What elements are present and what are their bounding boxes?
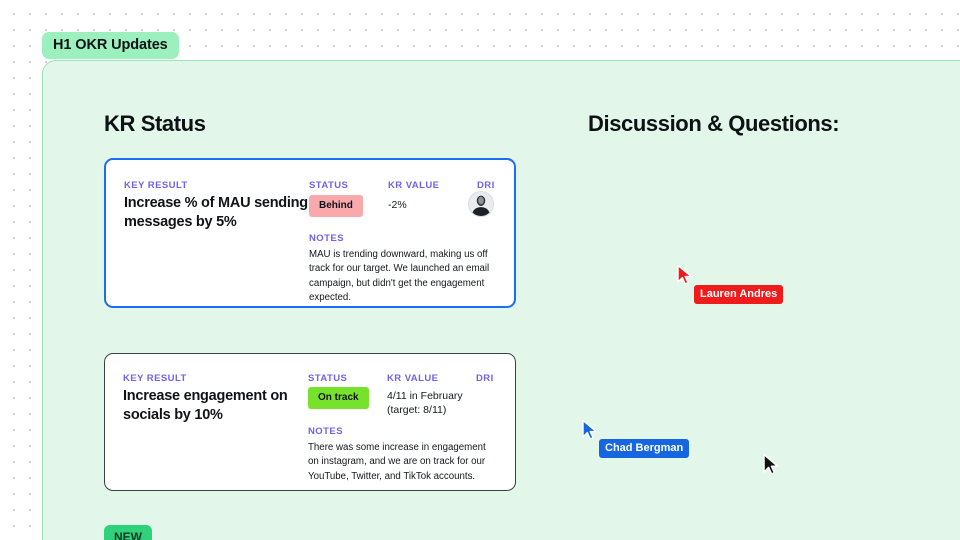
field-label-key-result: KEY RESULT <box>123 373 187 384</box>
collaborator-name-label: Lauren Andres <box>694 285 783 304</box>
field-label-notes: NOTES <box>309 233 344 244</box>
field-label-dri: DRI <box>477 180 495 191</box>
field-label-kr-value: KR VALUE <box>388 180 439 191</box>
status-badge[interactable]: Behind <box>309 195 363 217</box>
field-label-key-result: KEY RESULT <box>124 180 188 191</box>
cursor-arrow-icon <box>581 419 599 441</box>
kr-value: -2% <box>388 198 480 212</box>
avatar[interactable] <box>468 191 494 217</box>
kr-title: Increase engagement on socials by 10% <box>123 387 313 426</box>
kr-card[interactable]: KEY RESULT Increase % of MAU sending mes… <box>104 158 516 308</box>
kr-status-heading: KR Status <box>104 111 206 137</box>
field-label-status: STATUS <box>308 373 347 384</box>
notes-body: MAU is trending downward, making us off … <box>309 248 491 305</box>
person-avatar-icon <box>469 192 493 216</box>
kr-title: Increase % of MAU sending messages by 5% <box>124 194 314 233</box>
field-label-dri: DRI <box>476 373 494 384</box>
next-section-badge[interactable]: NEW <box>104 525 152 540</box>
kr-value: 4/11 in February (target: 8/11) <box>387 389 479 418</box>
kr-card[interactable]: KEY RESULT Increase engagement on social… <box>104 353 516 491</box>
status-badge[interactable]: On track <box>308 387 369 409</box>
field-label-status: STATUS <box>309 180 348 191</box>
field-label-kr-value: KR VALUE <box>387 373 438 384</box>
collaborator-name-label: Chad Bergman <box>599 439 689 458</box>
field-label-notes: NOTES <box>308 426 343 437</box>
cursor-arrow-icon <box>676 264 694 286</box>
discussion-questions-heading: Discussion & Questions: <box>588 111 839 137</box>
mouse-pointer <box>762 453 780 477</box>
section-title-tag[interactable]: H1 OKR Updates <box>42 32 179 59</box>
notes-body: There was some increase in engagement on… <box>308 441 490 484</box>
arrow-cursor-icon <box>762 453 780 477</box>
